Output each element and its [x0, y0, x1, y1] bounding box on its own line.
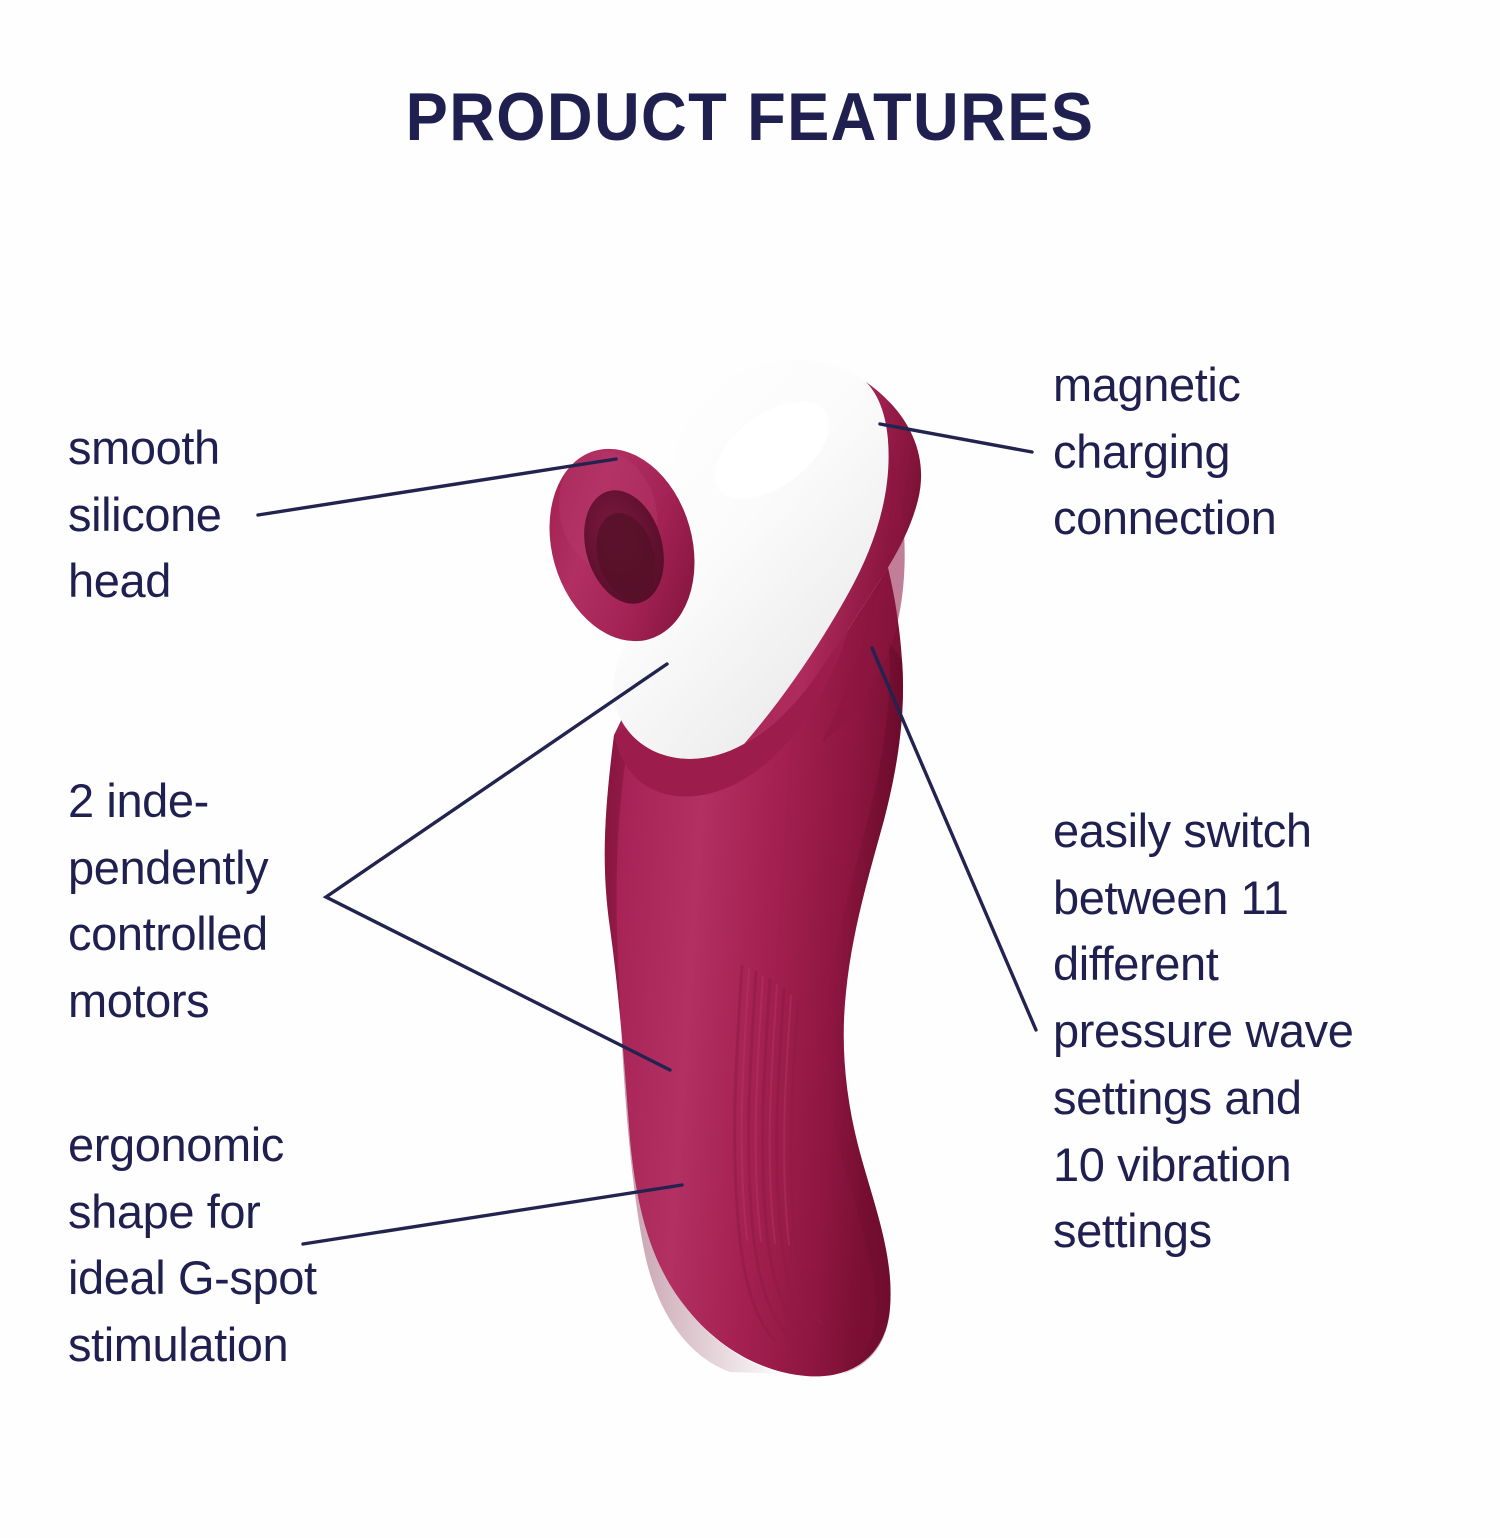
- leader-motors: [326, 664, 670, 1070]
- product-features-infographic: PRODUCT FEATURES: [0, 0, 1500, 1538]
- leader-settings: [872, 648, 1036, 1030]
- leader-magnetic: [880, 424, 1032, 452]
- leader-ergonomic: [303, 1185, 682, 1244]
- leader-lines: [0, 0, 1500, 1538]
- leader-smooth-head: [258, 459, 616, 515]
